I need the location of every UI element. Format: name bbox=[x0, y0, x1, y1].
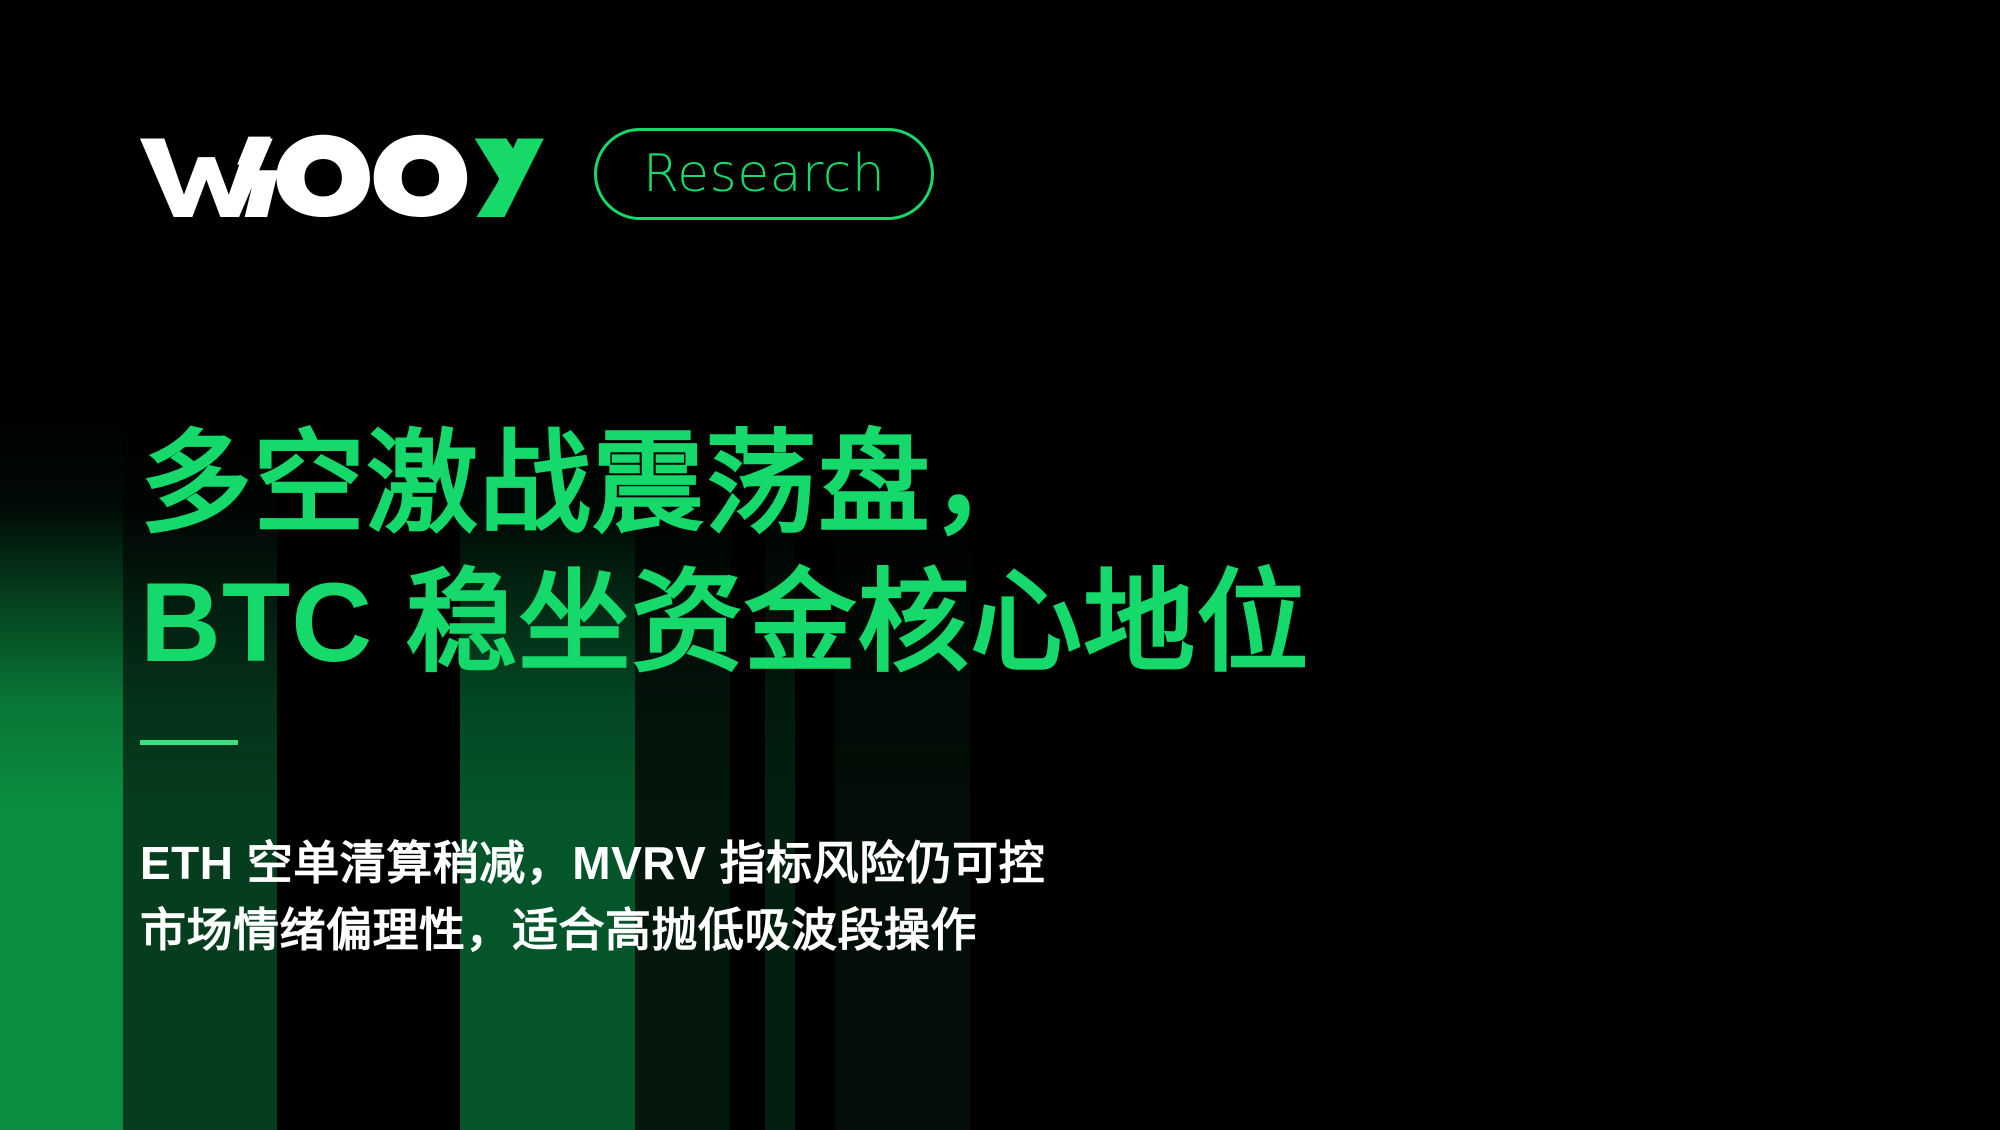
page-title: 多空激战震荡盘， BTC 稳坐资金核心地位 bbox=[140, 415, 1309, 693]
research-badge[interactable]: Research bbox=[594, 128, 935, 220]
banner-canvas: Research 多空激战震荡盘， BTC 稳坐资金核心地位 ETH 空单清算稍… bbox=[0, 0, 2000, 1130]
headline-line-2: BTC 稳坐资金核心地位 bbox=[140, 554, 1309, 693]
woo-x-logo bbox=[140, 131, 544, 217]
brand-header: Research bbox=[140, 128, 934, 220]
divider-rule bbox=[140, 740, 238, 745]
subtitle: ETH 空单清算稍减，MVRV 指标风险仍可控 市场情绪偏理性，适合高抛低吸波段… bbox=[140, 830, 1045, 964]
research-badge-label: Research bbox=[643, 148, 886, 200]
background-bar bbox=[0, 0, 123, 1130]
subtitle-line-2: 市场情绪偏理性，适合高抛低吸波段操作 bbox=[140, 897, 1045, 964]
headline-line-1: 多空激战震荡盘， bbox=[140, 415, 1309, 554]
subtitle-line-1: ETH 空单清算稍减，MVRV 指标风险仍可控 bbox=[140, 830, 1045, 897]
